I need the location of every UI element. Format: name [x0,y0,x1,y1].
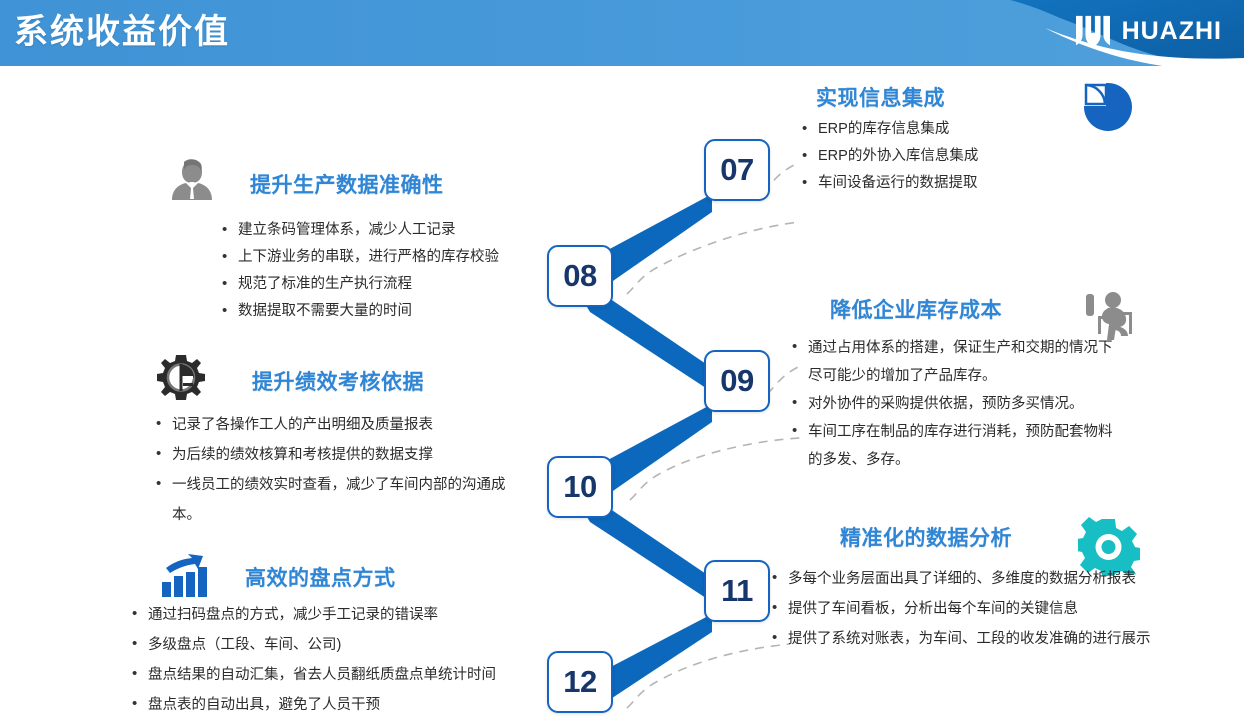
list-item: 上下游业务的串联，进行严格的库存校验 [220,244,499,271]
list-item: 数据提取不需要大量的时间 [220,298,499,325]
person-avatar-icon [167,155,217,210]
step-number-11[interactable]: 11 [704,560,770,622]
list-item: 盘点结果的自动汇集，省去人员翻纸质盘点单统计时间 [130,660,530,690]
block-title: 高效的盘点方式 [245,562,396,592]
block-title: 降低企业库存成本 [830,294,1002,324]
list-item: 记录了各操作工人的产出明细及质量报表 [154,410,524,440]
step-number-10[interactable]: 10 [547,456,613,518]
huazhi-shield-icon [1074,14,1112,48]
step-number-07[interactable]: 07 [704,139,770,201]
list-item: 盘点表的自动出具，避免了人员干预 [130,690,530,720]
list-item: 通过扫码盘点的方式，减少手工记录的错误率 [130,600,530,630]
page-title: 系统收益价值 [14,8,230,56]
gear-chart-icon [152,352,210,415]
block-title: 提升绩效考核依据 [252,366,424,396]
brand-logo: HUAZHI [1074,14,1222,48]
block-bullet-list: 记录了各操作工人的产出明细及质量报表 为后续的绩效核算和考核提供的数据支撑 一线… [154,410,524,530]
list-item: 通过占用体系的搭建，保证生产和交期的情况下尽可能少的增加了产品库存。 [790,334,1120,390]
list-item: ERP的外协入库信息集成 [800,143,978,170]
bar-chart-arrow-icon [158,552,212,605]
block-title: 提升生产数据准确性 [250,169,444,199]
list-item: 提供了系统对账表，为车间、工段的收发准确的进行展示 [770,624,1240,654]
brand-name: HUAZHI [1122,17,1222,46]
list-item: ERP的库存信息集成 [800,116,978,143]
block-title: 精准化的数据分析 [840,522,1012,552]
block-bullet-list: 建立条码管理体系，减少人工记录 上下游业务的串联，进行严格的库存校验 规范了标准… [220,217,499,325]
list-item: 对外协件的采购提供依据，预防多买情况。 [790,390,1120,418]
step-number-12[interactable]: 12 [547,651,613,713]
list-item: 建立条码管理体系，减少人工记录 [220,217,499,244]
block-bullet-list: ERP的库存信息集成 ERP的外协入库信息集成 车间设备运行的数据提取 [800,116,978,197]
slide-canvas: 系统收益价值 HUAZHI [0,0,1244,728]
block-bullet-list: 通过占用体系的搭建，保证生产和交期的情况下尽可能少的增加了产品库存。 对外协件的… [790,334,1120,474]
list-item: 车间工序在制品的库存进行消耗，预防配套物料的多发、多存。 [790,418,1120,474]
list-item: 多每个业务层面出具了详细的、多维度的数据分析报表 [770,564,1240,594]
pie-chart-icon [1078,76,1136,139]
list-item: 多级盘点（工段、车间、公司) [130,630,530,660]
block-bullet-list: 多每个业务层面出具了详细的、多维度的数据分析报表 提供了车间看板，分析出每个车间… [770,564,1240,654]
list-item: 一线员工的绩效实时查看，减少了车间内部的沟通成本。 [154,470,524,530]
list-item: 车间设备运行的数据提取 [800,170,978,197]
list-item: 规范了标准的生产执行流程 [220,271,499,298]
step-number-09[interactable]: 09 [704,350,770,412]
block-title: 实现信息集成 [816,82,945,112]
list-item: 提供了车间看板，分析出每个车间的关键信息 [770,594,1240,624]
list-item: 为后续的绩效核算和考核提供的数据支撑 [154,440,524,470]
step-number-08[interactable]: 08 [547,245,613,307]
page-header: 系统收益价值 HUAZHI [0,0,1244,72]
block-bullet-list: 通过扫码盘点的方式，减少手工记录的错误率 多级盘点（工段、车间、公司) 盘点结果… [130,600,530,720]
